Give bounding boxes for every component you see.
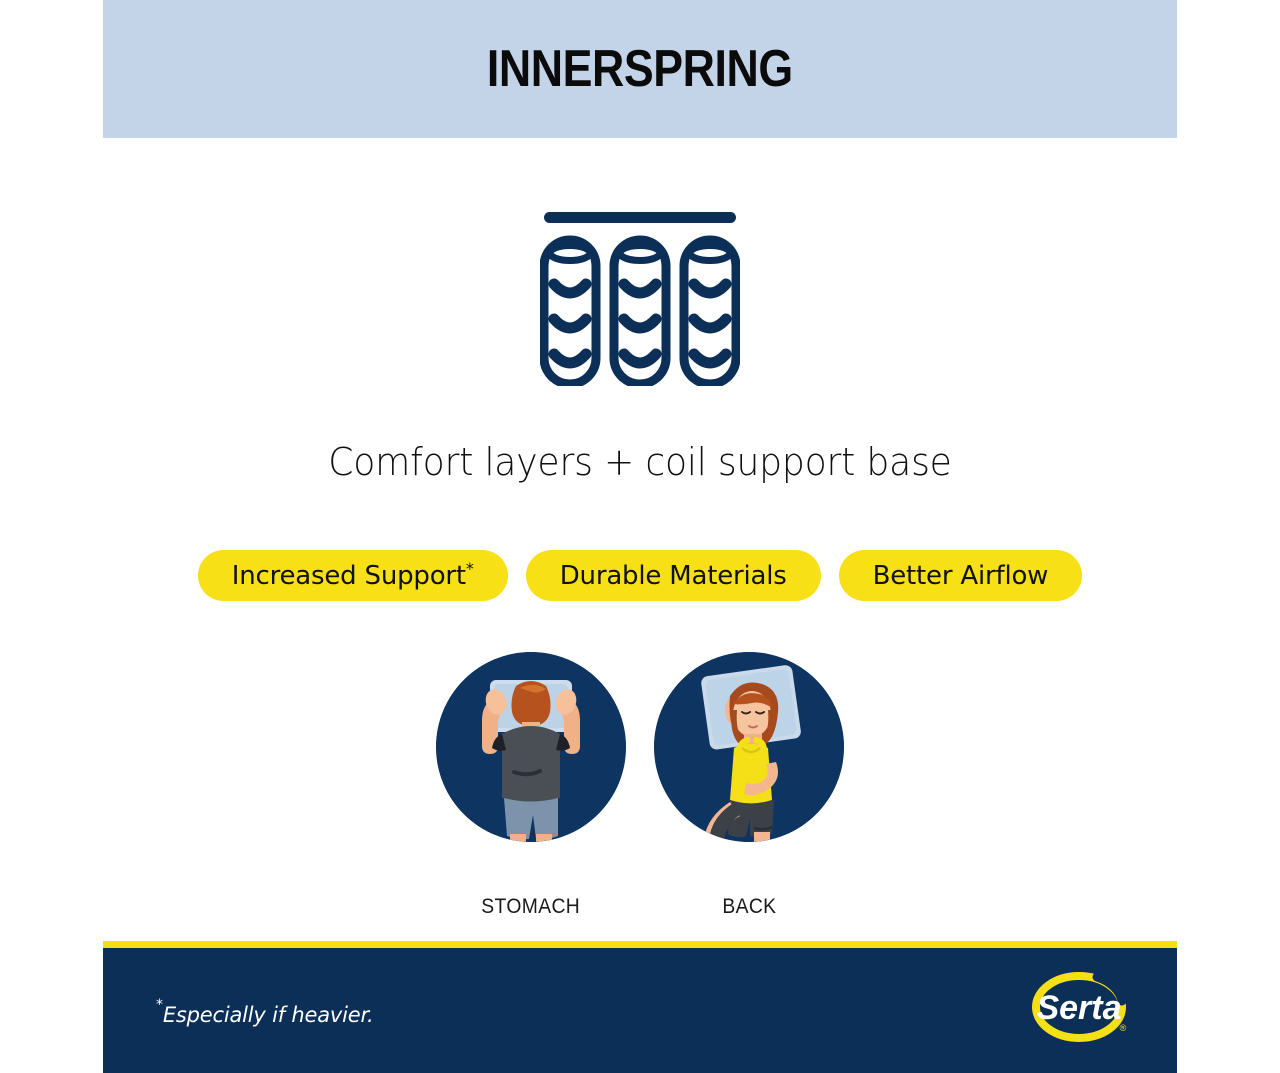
coil-icon-wrapper — [103, 196, 1177, 386]
header-band: INNERSPRING — [103, 0, 1177, 138]
sleep-position-label: BACK — [722, 895, 776, 919]
footnote-text: *Especially if heavier. — [156, 1003, 373, 1027]
sleep-position-stomach[interactable]: STOMACH — [433, 652, 629, 919]
sleep-position-label: STOMACH — [482, 895, 581, 919]
feature-pill-label: Better Airflow — [873, 561, 1049, 591]
registered-mark: ® — [1120, 1023, 1127, 1033]
feature-pill-row: Increased Support* Durable Materials Bet… — [103, 550, 1177, 601]
sleeper-stomach-icon — [436, 652, 626, 842]
tagline: Comfort layers + coil support base — [130, 440, 1150, 484]
feature-pill-label: Increased Support — [232, 561, 466, 591]
footer-bar: *Especially if heavier. Serta ® — [103, 941, 1177, 1073]
feature-pill-increased-support[interactable]: Increased Support* — [198, 550, 508, 601]
innerspring-card: INNERSPRING — [103, 0, 1177, 1073]
feature-pill-durable-materials[interactable]: Durable Materials — [526, 550, 821, 601]
sleep-position-back[interactable]: BACK — [651, 652, 847, 919]
footer-accent-line — [103, 941, 1177, 948]
sleep-positions-row: STOMACH — [103, 652, 1177, 919]
feature-pill-better-airflow[interactable]: Better Airflow — [839, 550, 1083, 601]
page-title: INNERSPRING — [487, 43, 793, 95]
sleeper-back-icon — [654, 652, 844, 842]
infographic-page: INNERSPRING — [0, 0, 1280, 1073]
footnote-marker: * — [156, 997, 163, 1013]
footnote-label: Especially if heavier. — [163, 1003, 374, 1027]
serta-logo[interactable]: Serta ® — [1027, 961, 1137, 1053]
feature-pill-label: Durable Materials — [560, 561, 787, 591]
serta-wordmark: Serta — [1036, 989, 1121, 1027]
coil-springs-icon — [540, 196, 740, 386]
